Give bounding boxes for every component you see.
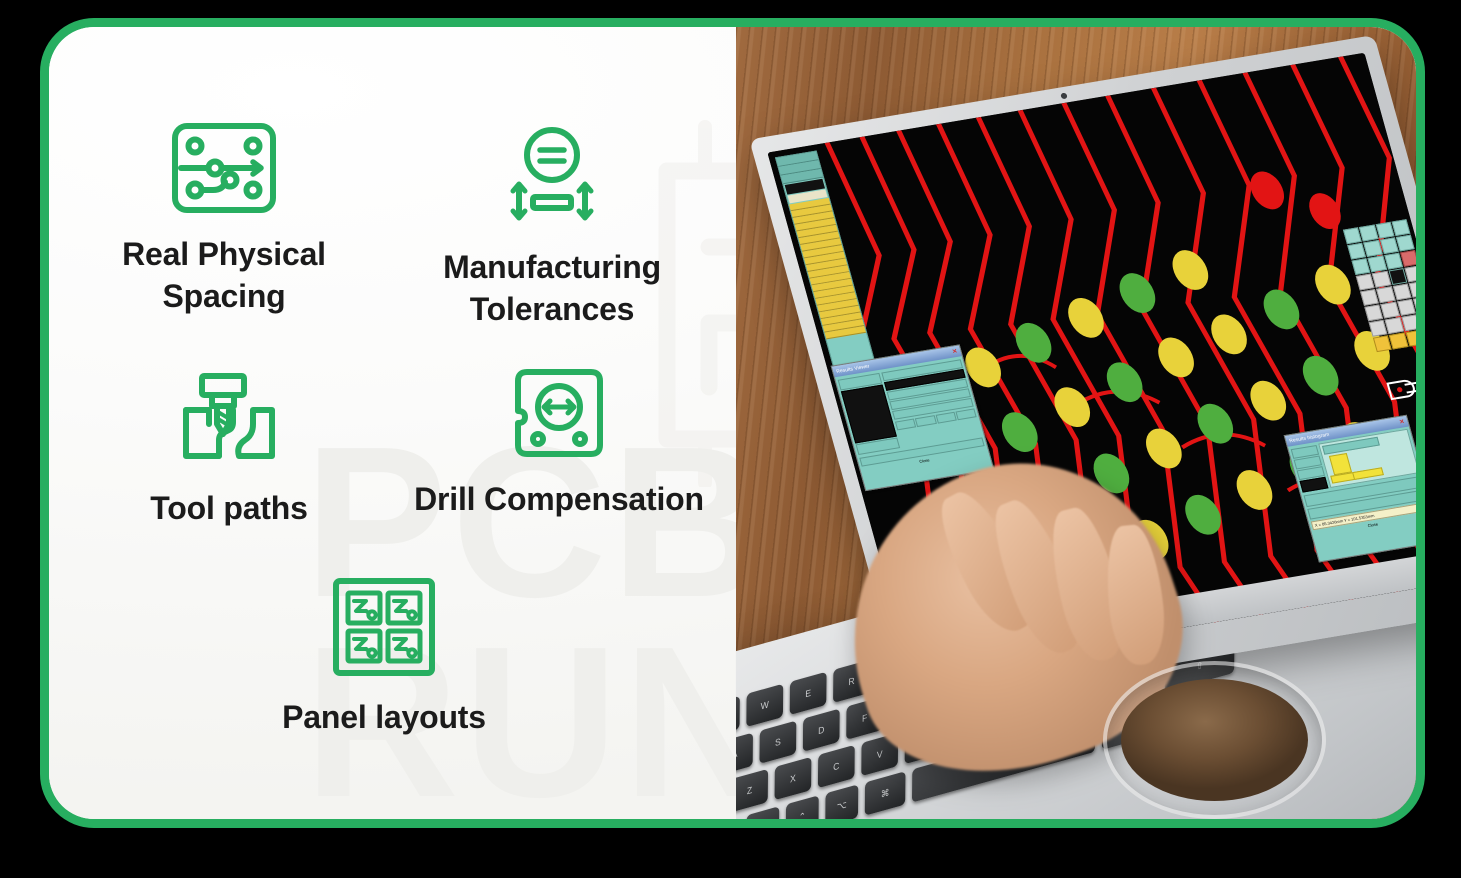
window-body: Close bbox=[835, 356, 989, 476]
window-body: X = 85.3426mm Y = 101.5353mm Close bbox=[1288, 426, 1416, 539]
key[interactable]: C bbox=[818, 745, 855, 788]
laptop: Q W E R T Y U I O P [ ] bbox=[736, 27, 1416, 819]
feature-manufacturing-tolerances[interactable]: ManufacturingTolerances bbox=[407, 127, 697, 330]
feature-tool-paths[interactable]: Tool paths bbox=[109, 372, 349, 529]
key[interactable]: X bbox=[775, 757, 812, 800]
feature-label: Real PhysicalSpacing bbox=[79, 233, 369, 317]
tool-button[interactable] bbox=[1400, 250, 1416, 267]
key[interactable]: W bbox=[746, 684, 783, 727]
button-first[interactable] bbox=[895, 419, 916, 431]
key-cmd[interactable]: ⌘ bbox=[865, 771, 906, 816]
button-next[interactable] bbox=[935, 412, 956, 424]
key[interactable]: Z bbox=[736, 769, 768, 812]
key[interactable]: E bbox=[790, 672, 827, 715]
feature-drill-compensation[interactable]: Drill Compensation bbox=[389, 367, 729, 520]
key[interactable]: Q bbox=[736, 696, 740, 739]
feature-list: Real PhysicalSpacing bbox=[49, 27, 789, 817]
key-fn[interactable]: fn bbox=[746, 806, 779, 819]
key-alt[interactable]: ⌥ bbox=[825, 784, 858, 819]
tolerance-measure-icon bbox=[407, 127, 697, 232]
laptop-photo: Q W E R T Y U I O P [ ] bbox=[736, 27, 1416, 819]
key-ctrl[interactable]: ⌃ bbox=[786, 795, 819, 819]
button-prev[interactable] bbox=[915, 415, 936, 427]
feature-panel-layouts[interactable]: Panel layouts bbox=[234, 577, 534, 738]
feature-label: Tool paths bbox=[109, 487, 349, 529]
close-icon[interactable]: ✕ bbox=[951, 348, 958, 356]
close-icon[interactable]: ✕ bbox=[1399, 418, 1406, 426]
button-last[interactable] bbox=[955, 408, 976, 420]
key[interactable]: S bbox=[759, 721, 796, 764]
feature-real-physical-spacing[interactable]: Real PhysicalSpacing bbox=[79, 122, 369, 317]
coffee-cup bbox=[1103, 661, 1326, 819]
feature-label: Panel layouts bbox=[234, 696, 534, 738]
drill-bit-cut-icon bbox=[109, 372, 349, 473]
green-bordered-card: PCB RUNNER bbox=[40, 18, 1425, 828]
key[interactable]: D bbox=[803, 708, 840, 751]
drill-diameter-icon bbox=[389, 367, 729, 464]
field-selection-total[interactable] bbox=[1322, 437, 1380, 455]
card-background: PCB RUNNER bbox=[49, 27, 1416, 819]
pcb-trace-board-icon bbox=[79, 122, 369, 219]
coffee-liquid bbox=[1121, 679, 1308, 801]
feature-label: ManufacturingTolerances bbox=[407, 246, 697, 330]
panel-grid-icon bbox=[234, 577, 534, 682]
key[interactable]: A bbox=[736, 733, 753, 776]
webcam bbox=[1060, 93, 1068, 100]
feature-label: Drill Compensation bbox=[389, 478, 729, 520]
screenshot-root: PCB RUNNER bbox=[0, 0, 1461, 878]
